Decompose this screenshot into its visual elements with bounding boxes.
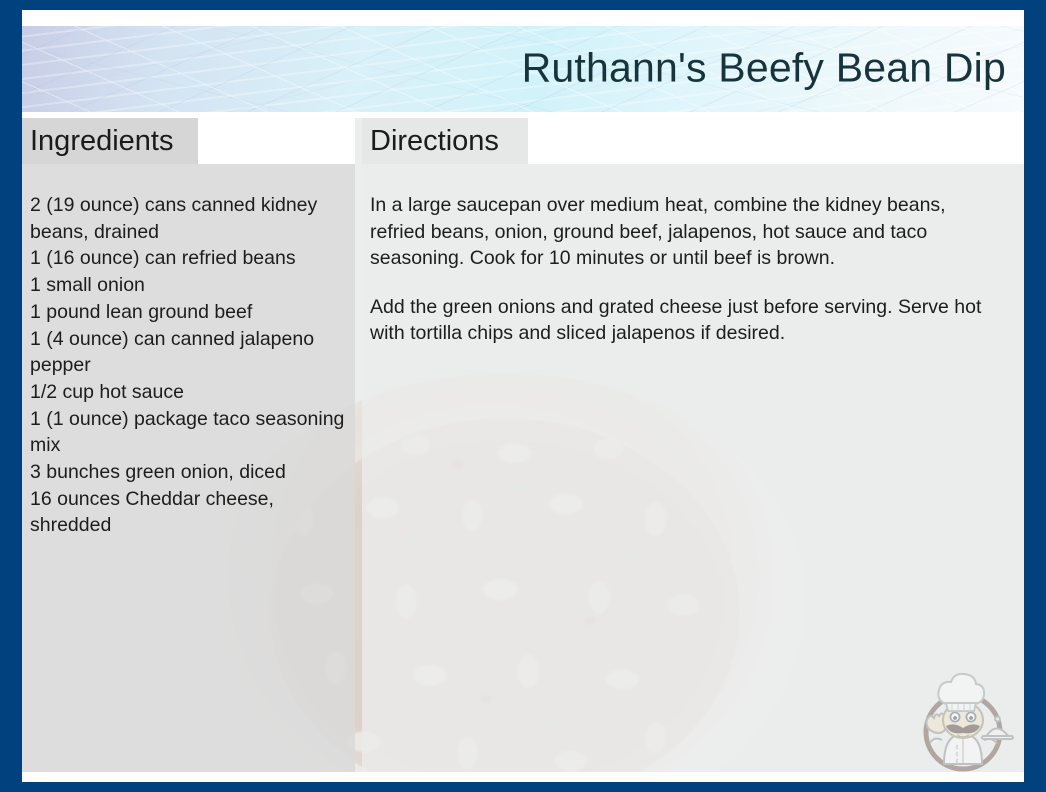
list-item: 1 (4 ounce) can canned jalapeno pepper xyxy=(30,326,345,379)
directions-tab-gap xyxy=(528,118,1024,164)
list-item: 2 (19 ounce) cans canned kidney beans, d… xyxy=(30,192,345,245)
list-item: 1 pound lean ground beef xyxy=(30,299,345,326)
ingredients-tab-gap xyxy=(198,118,355,164)
list-item: 16 ounces Cheddar cheese, shredded xyxy=(30,486,345,539)
directions-tab-label: Directions xyxy=(362,125,499,158)
list-item: 1 small onion xyxy=(30,272,345,299)
paragraph: In a large saucepan over medium heat, co… xyxy=(370,192,1014,272)
list-item: 1 (1 ounce) package taco seasoning mix xyxy=(30,406,345,459)
recipe-card-slide: Ruthann's Beefy Bean Dip Ingredients 2 (… xyxy=(0,0,1046,792)
title-banner: Ruthann's Beefy Bean Dip xyxy=(22,26,1024,112)
list-item: 1/2 cup hot sauce xyxy=(30,379,345,406)
page-title: Ruthann's Beefy Bean Dip xyxy=(522,45,1006,92)
list-item: 3 bunches green onion, diced xyxy=(30,459,345,486)
ingredients-body: 2 (19 ounce) cans canned kidney beans, d… xyxy=(22,164,355,772)
directions-paragraphs: In a large saucepan over medium heat, co… xyxy=(370,192,1014,347)
paragraph: Add the green onions and grated cheese j… xyxy=(370,294,1014,347)
list-item: 1 (16 ounce) can refried beans xyxy=(30,245,345,272)
ingredients-tab-label: Ingredients xyxy=(22,125,174,158)
ingredients-tab: Ingredients xyxy=(22,118,198,164)
ingredients-panel: Ingredients 2 (19 ounce) cans canned kid… xyxy=(22,118,355,772)
chef-with-cloche-icon xyxy=(908,644,1018,774)
ingredients-list: 2 (19 ounce) cans canned kidney beans, d… xyxy=(30,192,345,539)
directions-tab: Directions xyxy=(362,118,528,164)
